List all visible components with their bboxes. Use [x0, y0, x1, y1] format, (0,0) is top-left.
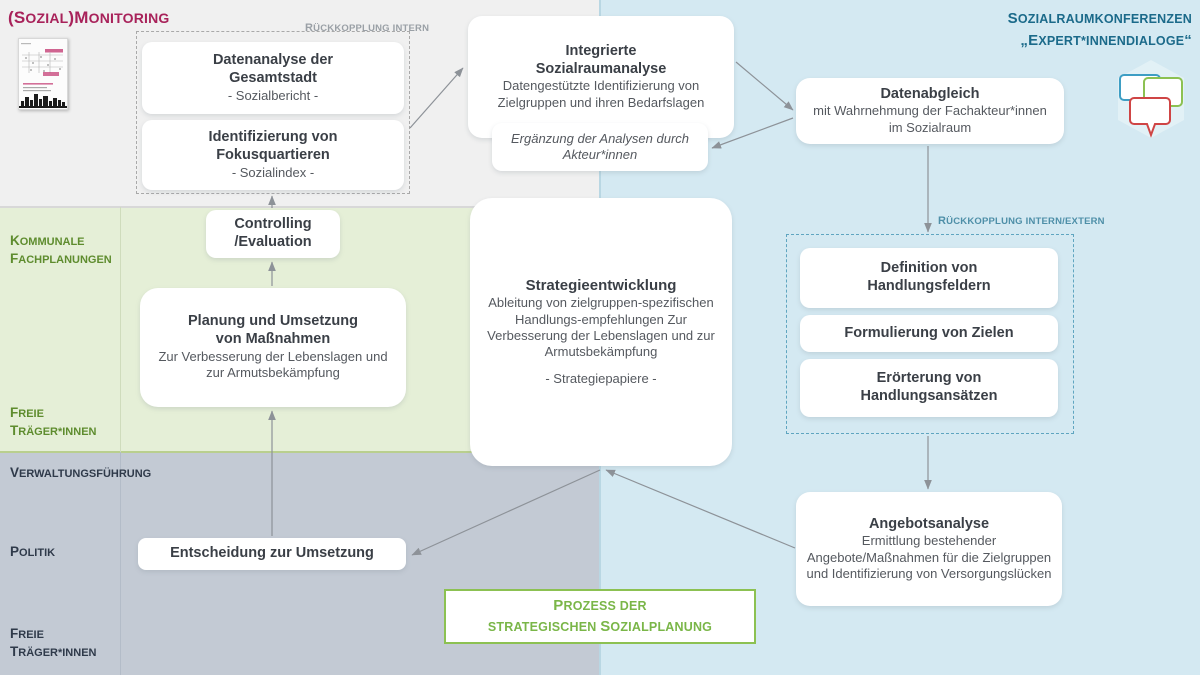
ft1-b: REIE [18, 408, 44, 420]
card-planung-title: Planung und Umsetzungvon Maßnahmen [188, 313, 358, 348]
card-strategieentwicklung[interactable]: Strategieentwicklung Ableitung von zielg… [470, 198, 732, 466]
kf-d: ACHPLANUNGEN [18, 254, 112, 266]
card-datenanalyse-subtitle: - Sozialbericht - [228, 88, 318, 104]
heading-sozialmonitoring-part3: )M [68, 8, 88, 27]
zone-label-verwaltungsfuehrung: VERWALTUNGSFÜHRUNG [10, 464, 151, 482]
card-strategie-note: - Strategiepapiere - [545, 371, 656, 387]
zone-label-freie1-line2: TRÄGER*INNEN [10, 422, 96, 440]
zone-label-kommunale-line1: KOMMUNALE [10, 232, 112, 250]
vf-b: ERWALTUNGSFÜHRUNG [19, 468, 151, 480]
card-entscheidung-umsetzung[interactable]: Entscheidung zur Umsetzung [138, 538, 406, 570]
card-formulierung-title: Formulierung von Zielen [844, 325, 1013, 343]
label-rueckkopplung-intern-extern: RÜCKKOPPLUNG INTERN/EXTERN [938, 215, 1105, 227]
card-prozess-line2: STRATEGISCHEN SOZIALPLANUNG [488, 617, 712, 637]
card-angebotsanalyse[interactable]: Angebotsanalyse Ermittlung bestehender A… [796, 492, 1062, 606]
column-divider-green [120, 207, 121, 452]
pr-c: STRATEGISCHEN [488, 620, 600, 634]
speech-bubbles-icon [1110, 58, 1192, 140]
card-planung-umsetzung-massnahmen[interactable]: Planung und Umsetzungvon Maßnahmen Zur V… [140, 288, 406, 407]
card-formulierung-ziele[interactable]: Formulierung von Zielen [800, 315, 1058, 352]
kf-b: OMMUNALE [20, 236, 85, 248]
card-identifizierung-title: Identifizierung vonFokusquartieren [209, 129, 338, 164]
card-identifizierung-fokusquartiere[interactable]: Identifizierung vonFokusquartieren - Soz… [142, 120, 404, 190]
card-prozess-line1: PROZESS DER [488, 596, 712, 616]
zone-label-freie2-line2: TRÄGER*INNEN [10, 643, 96, 661]
card-datenabgleich-title: Datenabgleich [880, 86, 979, 104]
card-entscheidung-title: Entscheidung zur Umsetzung [170, 545, 374, 563]
pol-b: OLITIK [19, 547, 55, 559]
zone-label-freie-traeger-2: FREIE TRÄGER*INNEN [10, 625, 96, 660]
card-prozess-text: PROZESS DER STRATEGISCHEN SOZIALPLANUNG [488, 596, 712, 637]
zone-label-freie1-line1: FREIE [10, 404, 96, 422]
kf-c: F [10, 251, 18, 266]
pr-a: P [553, 597, 563, 614]
zone-label-freie-traeger-1: FREIE TRÄGER*INNEN [10, 404, 96, 439]
heading-sozialraumkonferenzen-line1: SOZIALRAUMKONFERENZEN [1008, 8, 1192, 30]
ft2-d: RÄGER*INNEN [18, 647, 96, 659]
card-sozialraumanalyse-title: IntegrierteSozialraumanalyse [536, 43, 667, 78]
pr-d: S [600, 618, 610, 635]
card-strategie-subtitle: Ableitung von zielgruppen-spezifischen H… [480, 295, 722, 361]
card-datenabgleich[interactable]: Datenabgleich mit Wahrnehmung der Fachak… [796, 78, 1064, 144]
pr-e: OZIALPLANUNG [610, 620, 712, 634]
card-datenabgleich-subtitle: mit Wahrnehmung der Fachakteur*innen im … [806, 103, 1054, 136]
report-cover-graphic [19, 39, 67, 109]
heading-sozialmonitoring-part1: (S [8, 8, 25, 27]
card-prozess-strategische-sozialplanung[interactable]: PROZESS DER STRATEGISCHEN SOZIALPLANUNG [444, 589, 756, 644]
heading-sozialmonitoring-part4: ONITORING [89, 10, 170, 26]
zone-label-kommunale-line2: FACHPLANUNGEN [10, 250, 112, 268]
srk-l2-b: XPERT*INNENDIALOGE [1038, 34, 1184, 48]
card-controlling-title: Controlling/Evaluation [234, 216, 311, 251]
card-ergaenzung-text: Ergänzung der Analysen durch Akteur*inne… [502, 131, 698, 164]
fbie-b: ÜCKKOPPLUNG INTERN/EXTERN [946, 216, 1105, 227]
fbie-a: R [938, 215, 946, 227]
card-ergaenzung-analysen[interactable]: Ergänzung der Analysen durch Akteur*inne… [492, 123, 708, 171]
ft1-c: T [10, 423, 18, 438]
card-eroerterung-handlungsansaetze[interactable]: Erörterung vonHandlungsansätzen [800, 359, 1058, 417]
card-strategie-title: Strategieentwicklung [526, 277, 677, 295]
heading-sozialraumkonferenzen: SOZIALRAUMKONFERENZEN „EXPERT*INNENDIALO… [1008, 8, 1192, 52]
srk-l2-c: “ [1184, 32, 1192, 49]
heading-sozialraumkonferenzen-line2: „EXPERT*INNENDIALOGE“ [1008, 30, 1192, 52]
vf-a: V [10, 465, 19, 480]
zone-label-kommunale-fachplanungen: KOMMUNALE FACHPLANUNGEN [10, 232, 112, 267]
heading-sozialmonitoring-part2: OZIAL [25, 10, 68, 26]
srk-l1-b: OZIALRAUMKONFERENZEN [1018, 12, 1192, 26]
ft1-a: F [10, 405, 18, 420]
column-divider-gray [120, 452, 121, 675]
kf-a: K [10, 233, 20, 248]
ft2-c: T [10, 644, 18, 659]
srk-l1-a: S [1008, 10, 1018, 27]
card-angebotsanalyse-subtitle: Ermittlung bestehender Angebote/Maßnahme… [806, 533, 1052, 582]
heading-sozialmonitoring: (SOZIAL)MONITORING [8, 8, 170, 28]
card-controlling-evaluation[interactable]: Controlling/Evaluation [206, 210, 340, 258]
card-angebotsanalyse-title: Angebotsanalyse [869, 516, 989, 534]
report-cover-icon [18, 38, 68, 110]
card-definition-title: Definition vonHandlungsfeldern [867, 260, 990, 295]
card-integrierte-sozialraumanalyse[interactable]: IntegrierteSozialraumanalyse Datengestüt… [468, 16, 734, 138]
speech-bubbles-graphic [1110, 58, 1192, 140]
card-planung-subtitle: Zur Verbesserung der Lebenslagen und zur… [150, 349, 396, 382]
card-definition-handlungsfelder[interactable]: Definition vonHandlungsfeldern [800, 248, 1058, 308]
card-identifizierung-subtitle: - Sozialindex - [232, 165, 314, 181]
card-datenanalyse-title: Datenanalyse derGesamtstadt [213, 52, 333, 87]
diagram-canvas: (SOZIAL)MONITORING SOZIALRAUMKONFERENZEN… [0, 0, 1200, 675]
card-eroerterung-title: Erörterung vonHandlungsansätzen [861, 370, 998, 405]
ft1-d: RÄGER*INNEN [18, 426, 96, 438]
pr-b: ROZESS DER [563, 599, 646, 613]
card-sozialraumanalyse-subtitle: Datengestützte Identifizierung von Zielg… [478, 78, 724, 111]
srk-l2-a: „E [1020, 32, 1038, 49]
card-datenanalyse-gesamtstadt[interactable]: Datenanalyse derGesamtstadt - Sozialberi… [142, 42, 404, 114]
ft2-a: F [10, 626, 18, 641]
zone-label-freie2-line1: FREIE [10, 625, 96, 643]
ft2-b: REIE [18, 629, 44, 641]
zone-label-politik: POLITIK [10, 543, 55, 561]
pol-a: P [10, 544, 19, 559]
